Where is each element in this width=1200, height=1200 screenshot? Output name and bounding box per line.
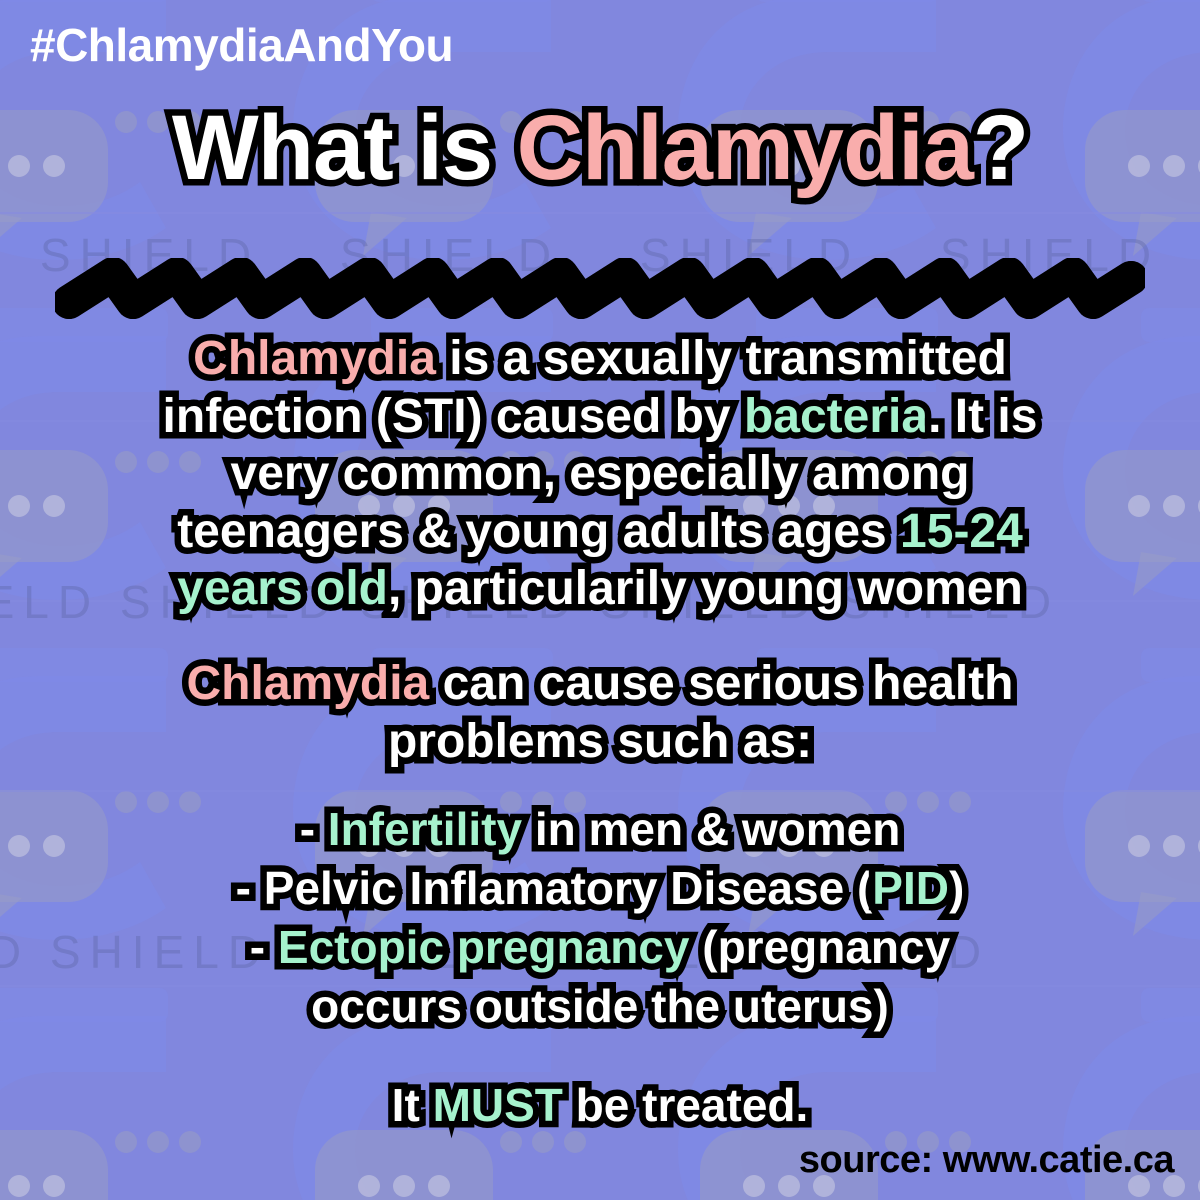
line-segment: problems such as: (388, 715, 812, 768)
line-segment: bacteria (744, 390, 928, 443)
title-part-1: What is (172, 97, 517, 199)
title-part-2: Chlamydia (517, 97, 973, 199)
list-item: - Pelvic Inflamatory Disease (PID) (0, 859, 1200, 918)
line-segment: can cause serious health (429, 657, 1013, 710)
paragraph-line: very common, especially among (0, 445, 1200, 503)
line-segment: MUST (433, 1079, 563, 1131)
line-segment: ) (949, 862, 964, 914)
line-segment: . It is (928, 390, 1037, 443)
paragraph-line: problems such as: (0, 713, 1200, 771)
list-item: - Ectopic pregnancy (pregnancy (0, 918, 1200, 977)
paragraph-line: teenagers & young adults ages 15-24 (0, 503, 1200, 561)
line-segment: (pregnancy (689, 921, 950, 973)
squiggle-divider-icon (55, 258, 1145, 320)
paragraph-two: Chlamydia can cause serious health probl… (0, 655, 1200, 770)
closing-line: It MUST be treated. (0, 1078, 1200, 1132)
line-segment: Infertility (328, 803, 522, 855)
bullet-list: - Infertility in men & women - Pelvic In… (0, 800, 1200, 1036)
hashtag-label: #ChlamydiaAndYou (30, 18, 453, 72)
source-credit: source: www.catie.ca (799, 1139, 1174, 1182)
line-segment: Chlamydia (187, 657, 430, 710)
paragraph-line: infection (STI) caused by bacteria. It i… (0, 388, 1200, 446)
list-item: occurs outside the uterus) (0, 977, 1200, 1036)
paragraph-line: Chlamydia is a sexually transmitted (0, 330, 1200, 388)
line-segment: very common, especially among (231, 447, 970, 500)
line-segment: Chlamydia (193, 332, 436, 385)
line-segment: - Pelvic Inflamatory Disease ( (236, 862, 873, 914)
line-segment: , particularily young women (388, 562, 1023, 615)
line-segment: PID (872, 862, 949, 914)
title-part-3: ? (973, 97, 1028, 199)
line-segment: 15-24 (900, 505, 1023, 558)
bullet-marker: - (300, 803, 328, 855)
line-segment: teenagers & young adults ages (177, 505, 900, 558)
closing-statement: It MUST be treated. (0, 1078, 1200, 1132)
line-segment: be treated. (563, 1079, 808, 1131)
paragraph-line: years old, particularily young women (0, 560, 1200, 618)
poster-content: #ChlamydiaAndYou What is Chlamydia? Chla… (0, 0, 1200, 1200)
line-segment: is a sexually transmitted (436, 332, 1007, 385)
paragraph-line: Chlamydia can cause serious health (0, 655, 1200, 713)
line-segment: years old (177, 562, 388, 615)
infographic-poster: SHIELD SHIELD SHIELD SHIELD SHIELD SHIEL… (0, 0, 1200, 1200)
line-segment: Ectopic pregnancy (278, 921, 690, 973)
zigzag-divider-svg (55, 258, 1145, 320)
line-segment: in men & women (522, 803, 900, 855)
paragraph-one: Chlamydia is a sexually transmitted infe… (0, 330, 1200, 618)
line-segment: occurs outside the uterus) (311, 980, 889, 1032)
list-item: - Infertility in men & women (0, 800, 1200, 859)
line-segment: It (392, 1079, 433, 1131)
line-segment: infection (STI) caused by (163, 390, 744, 443)
bullet-marker: - (250, 921, 278, 973)
page-title: What is Chlamydia? (0, 100, 1200, 197)
